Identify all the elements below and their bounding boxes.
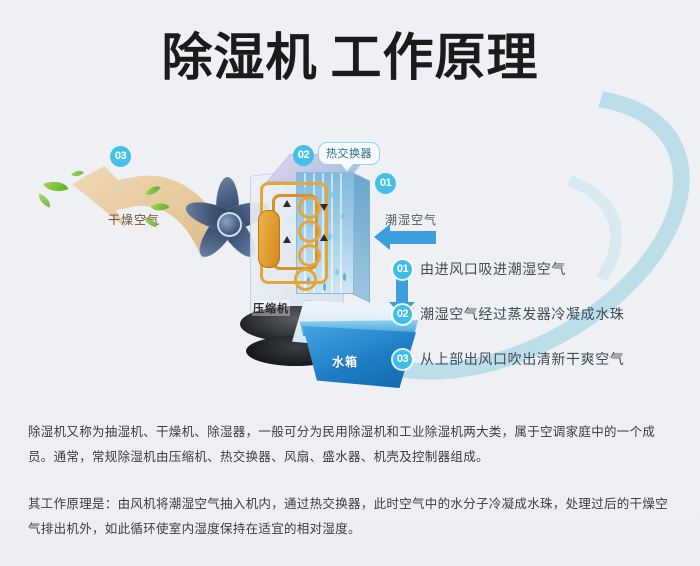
coil-loop [298,196,321,219]
legend-label-01: 由进风口吸进潮湿空气 [420,259,566,279]
page-title-part1: 除湿机 [161,29,317,86]
humid-air-label: 潮湿空气 [385,211,437,228]
legend-list: 01 由进风口吸进潮湿空气 02 潮湿空气经过蒸发器冷凝成水珠 03 从上部出风… [393,252,683,387]
legend-label-03: 从上部出风口吹出清新干爽空气 [420,349,624,369]
diagram-badge-01: 01 [375,173,396,194]
compressor-label: 压缩机 [252,300,290,316]
legend-badge-03: 03 [393,350,412,369]
legend-item-03: 03 从上部出风口吹出清新干爽空气 [393,342,683,376]
page-title-part2: 工作原理 [331,29,539,86]
dry-air-label: 干燥空气 [108,211,160,228]
page-root: 除湿机工作原理 [0,0,700,566]
heat-exchanger-callout: 热交换器 [318,142,380,165]
air-inlet-arrow [390,231,436,244]
leaf-icon [36,193,53,207]
coil-loop [294,268,317,291]
diagram-badge-03: 03 [110,146,131,167]
page-title: 除湿机工作原理 [0,28,700,88]
water-tank-label: 水箱 [332,353,358,370]
description-paragraph-2: 其工作原理是：由风机将潮湿空气抽入机内，通过热交换器，此时空气中的水分子冷凝成水… [28,492,676,542]
legend-item-02: 02 潮湿空气经过蒸发器冷凝成水珠 [393,297,683,331]
coil-loop [298,244,321,267]
diagram-badge-02: 02 [293,145,314,166]
coil-loop [298,220,321,243]
legend-label-02: 潮湿空气经过蒸发器冷凝成水珠 [420,304,624,324]
description-paragraph-1: 除湿机又称为抽湿机、干燥机、除湿器，一般可分为民用除湿机和工业除湿机两大类，属于… [28,420,676,470]
heat-exchanger-side [352,172,370,303]
legend-badge-02: 02 [393,305,412,324]
legend-item-01: 01 由进风口吸进潮湿空气 [393,252,683,286]
legend-badge-01: 01 [393,260,412,279]
compressor-vessel [258,210,280,268]
description-copy: 除湿机又称为抽湿机、干燥机、除湿器，一般可分为民用除湿机和工业除湿机两大类，属于… [28,420,676,542]
leaf-icon [44,177,69,196]
